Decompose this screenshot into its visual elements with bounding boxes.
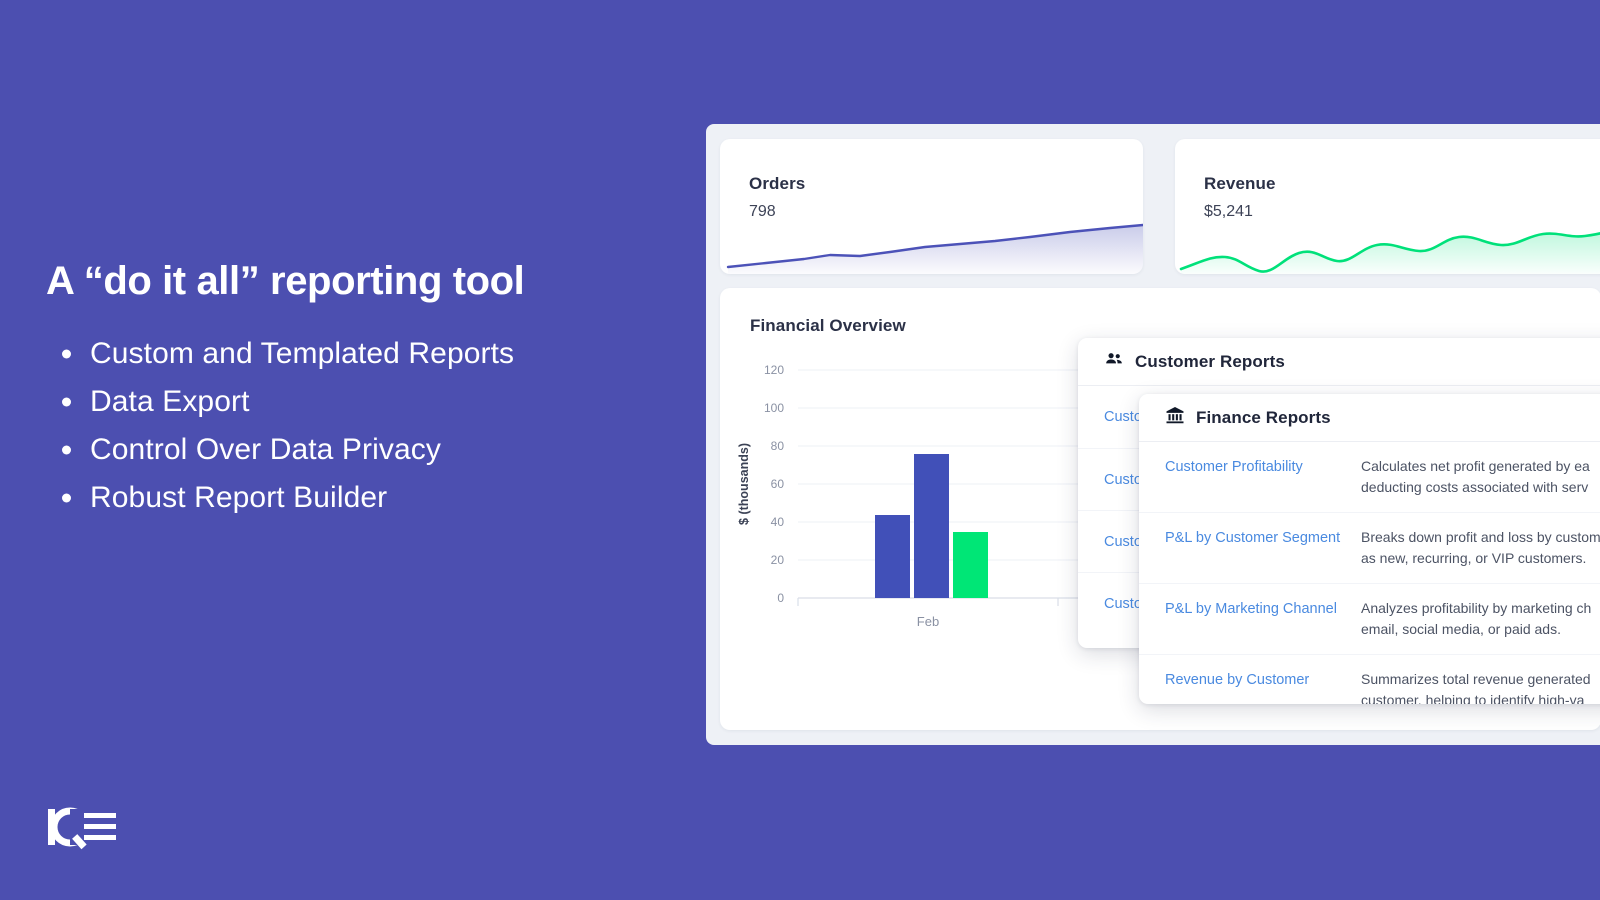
list-item[interactable]: Revenue by Customer Summarizes total rev… (1139, 654, 1600, 704)
list-item: Control Over Data Privacy (46, 426, 686, 474)
kpi-card-orders[interactable]: Orders 798 (720, 139, 1143, 274)
finance-reports-rows: Customer Profitability Calculates net pr… (1139, 442, 1600, 704)
orders-sparkline (720, 214, 1143, 274)
finance-report-link[interactable]: P&L by Marketing Channel (1165, 598, 1361, 620)
marketing-panel: A “do it all” reporting tool Custom and … (0, 0, 700, 900)
chart-y-ticks: 120 100 80 60 40 20 0 (764, 363, 784, 605)
list-item-label: Robust Report Builder (90, 481, 387, 514)
finance-report-description: Analyzes profitability by marketing ch e… (1361, 598, 1591, 640)
svg-text:Feb: Feb (917, 614, 939, 629)
bank-icon (1165, 405, 1185, 430)
kpi-title: Revenue (1204, 174, 1276, 194)
list-item-label: Control Over Data Privacy (90, 433, 441, 466)
iq-logo (46, 803, 166, 851)
finance-report-description: Breaks down profit and loss by custom as… (1361, 527, 1600, 569)
revenue-sparkline (1175, 214, 1600, 274)
customer-reports-header: Customer Reports (1078, 338, 1600, 386)
bar-feb-2[interactable] (914, 454, 949, 598)
customer-reports-title: Customer Reports (1135, 352, 1285, 372)
people-icon (1104, 349, 1124, 374)
kpi-title: Orders (749, 174, 805, 194)
finance-reports-panel[interactable]: Finance Reports Customer Profitability C… (1139, 394, 1600, 704)
list-item[interactable]: P&L by Customer Segment Breaks down prof… (1139, 512, 1600, 583)
svg-text:80: 80 (771, 439, 785, 453)
kpi-card-revenue[interactable]: Revenue $5,241 (1175, 139, 1600, 274)
svg-text:60: 60 (771, 477, 785, 491)
finance-report-link[interactable]: Revenue by Customer (1165, 669, 1361, 691)
finance-report-description: Calculates net profit generated by ea de… (1361, 456, 1590, 498)
svg-text:100: 100 (764, 401, 784, 415)
svg-text:20: 20 (771, 553, 785, 567)
list-item[interactable]: Customer Profitability Calculates net pr… (1139, 442, 1600, 512)
finance-report-link[interactable]: Customer Profitability (1165, 456, 1361, 478)
list-item: Robust Report Builder (46, 474, 686, 522)
finance-report-description: Summarizes total revenue generated custo… (1361, 669, 1591, 704)
list-item-label: Data Export (90, 385, 250, 418)
finance-reports-header: Finance Reports (1139, 394, 1600, 442)
bullet-dot-icon (62, 446, 71, 455)
list-item: Data Export (46, 378, 686, 426)
chart-y-axis-label: $ (thousands) (737, 443, 751, 525)
kpi-row: Orders 798 Revenue $5,241 (720, 139, 1600, 274)
svg-text:40: 40 (771, 515, 785, 529)
bullet-dot-icon (62, 398, 71, 407)
finance-reports-title: Finance Reports (1196, 408, 1331, 428)
bullet-dot-icon (62, 494, 71, 503)
svg-text:0: 0 (777, 591, 784, 605)
bar-feb-3[interactable] (953, 532, 988, 598)
chart-title: Financial Overview (750, 316, 906, 336)
list-item[interactable]: P&L by Marketing Channel Analyzes profit… (1139, 583, 1600, 654)
bullet-dot-icon (62, 350, 71, 359)
feature-list: Custom and Templated Reports Data Export… (46, 330, 686, 522)
list-item: Custom and Templated Reports (46, 330, 686, 378)
bar-feb-1[interactable] (875, 515, 910, 598)
list-item-label: Custom and Templated Reports (90, 337, 514, 370)
svg-text:120: 120 (764, 363, 784, 377)
page-title: A “do it all” reporting tool (46, 258, 666, 304)
finance-report-link[interactable]: P&L by Customer Segment (1165, 527, 1361, 549)
